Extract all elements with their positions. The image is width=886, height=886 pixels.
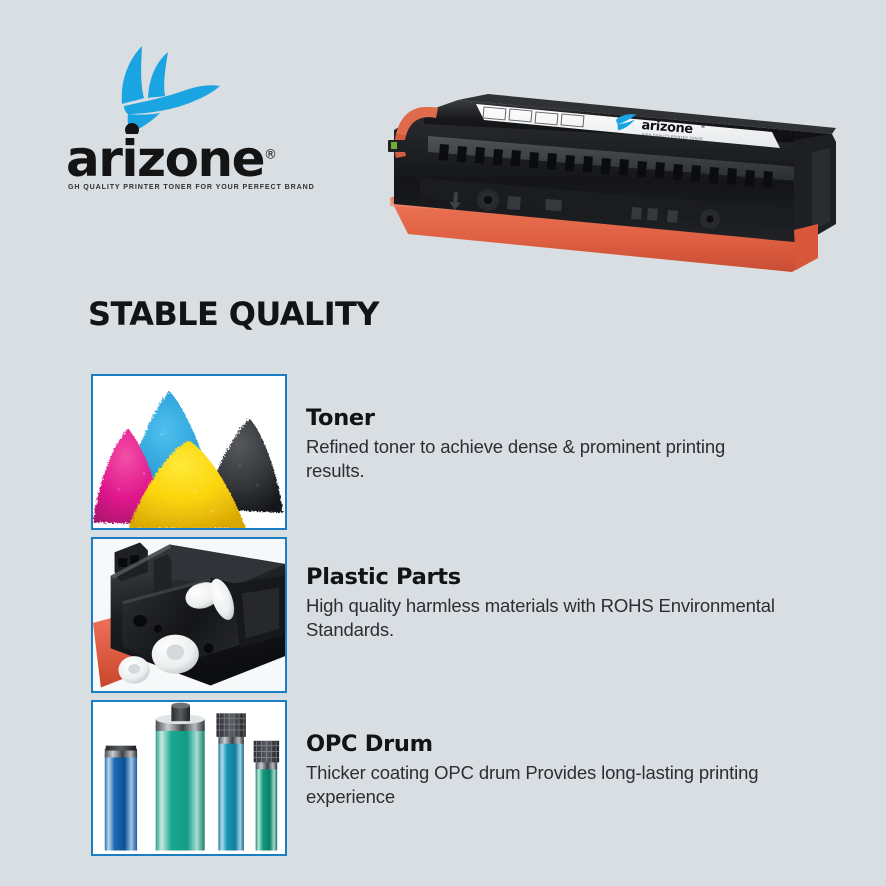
feature-title: Plastic Parts <box>306 565 796 591</box>
feature-description: Thicker coating OPC drum Provides long-l… <box>306 761 776 808</box>
feature-title: OPC Drum <box>306 732 796 758</box>
feature-text-toner: Toner Refined toner to achieve dense & p… <box>306 406 796 482</box>
feature-text-opc-drum: OPC Drum Thicker coating OPC drum Provid… <box>306 732 796 808</box>
opc-drum-photo <box>91 700 287 856</box>
cmyk-toner-powder-photo <box>91 374 287 530</box>
features-list: Toner Refined toner to achieve dense & p… <box>0 0 886 886</box>
feature-description: High quality harmless materials with ROH… <box>306 594 776 641</box>
plastic-parts-photo <box>91 537 287 693</box>
feature-description: Refined toner to achieve dense & promine… <box>306 435 776 482</box>
infographic-page: arizone® GH QUALITY PRINTER TONER FOR YO… <box>0 0 886 886</box>
feature-title: Toner <box>306 406 796 432</box>
feature-text-plastic-parts: Plastic Parts High quality harmless mate… <box>306 565 796 641</box>
